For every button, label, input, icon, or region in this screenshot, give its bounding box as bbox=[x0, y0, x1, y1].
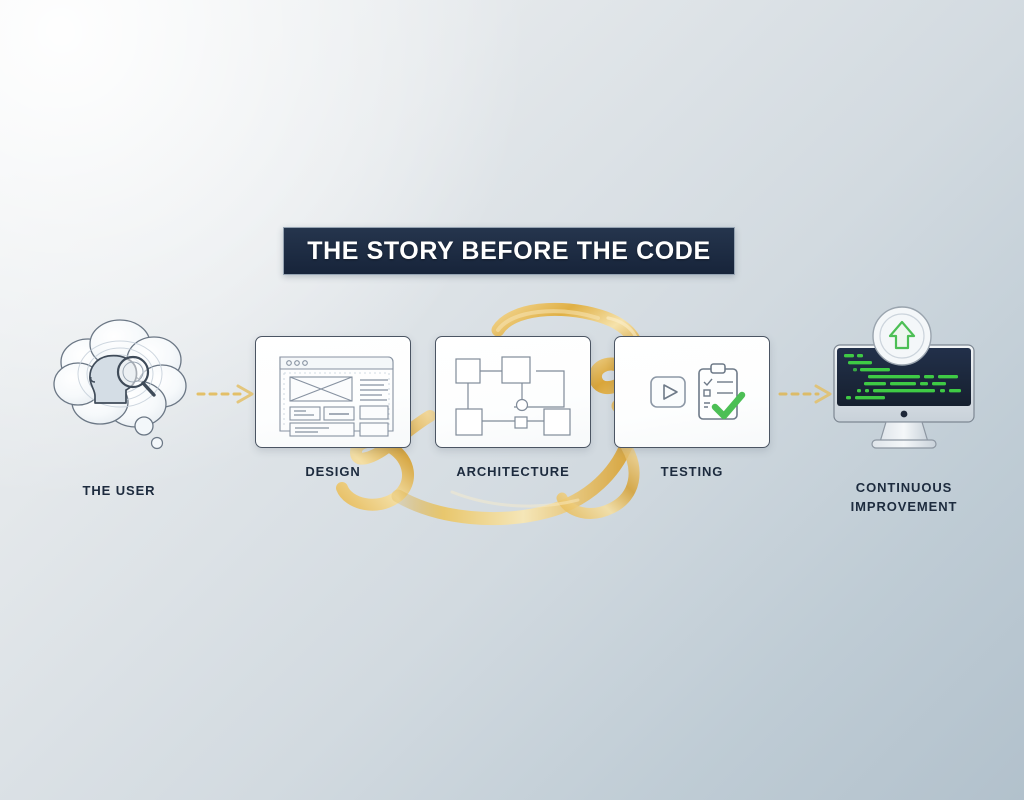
flow-label-testing: TESTING bbox=[614, 462, 770, 481]
architecture-card[interactable] bbox=[435, 336, 591, 448]
infographic-canvas: THE USER bbox=[0, 0, 1024, 800]
monitor-code-upload-icon bbox=[824, 300, 984, 452]
flow-step-design[interactable] bbox=[255, 336, 411, 448]
flow-label-design: DESIGN bbox=[255, 462, 411, 481]
page-title: THE STORY BEFORE THE CODE bbox=[307, 237, 710, 266]
design-card[interactable] bbox=[255, 336, 411, 448]
connector-testing-to-monitor bbox=[778, 382, 836, 406]
flow-step-architecture[interactable] bbox=[435, 336, 591, 448]
testing-card[interactable] bbox=[614, 336, 770, 448]
play-clipboard-check-icon bbox=[615, 337, 771, 449]
flow-step-continuous-improvement[interactable] bbox=[824, 300, 984, 452]
flow-step-testing[interactable] bbox=[614, 336, 770, 448]
thought-bubble-head-magnifier-icon bbox=[44, 304, 196, 464]
flow-label-architecture: ARCHITECTURE bbox=[425, 462, 601, 481]
node-diagram-icon bbox=[436, 337, 592, 449]
play-button-icon bbox=[651, 377, 685, 407]
page-title-banner: THE STORY BEFORE THE CODE bbox=[283, 227, 735, 275]
wireframe-browser-icon bbox=[256, 337, 412, 449]
connector-user-to-design bbox=[196, 382, 258, 406]
flow-label-continuous-improvement: CONTINUOUS IMPROVEMENT bbox=[814, 478, 994, 516]
flow-step-user[interactable] bbox=[44, 304, 196, 464]
flow-label-user: THE USER bbox=[44, 481, 194, 500]
